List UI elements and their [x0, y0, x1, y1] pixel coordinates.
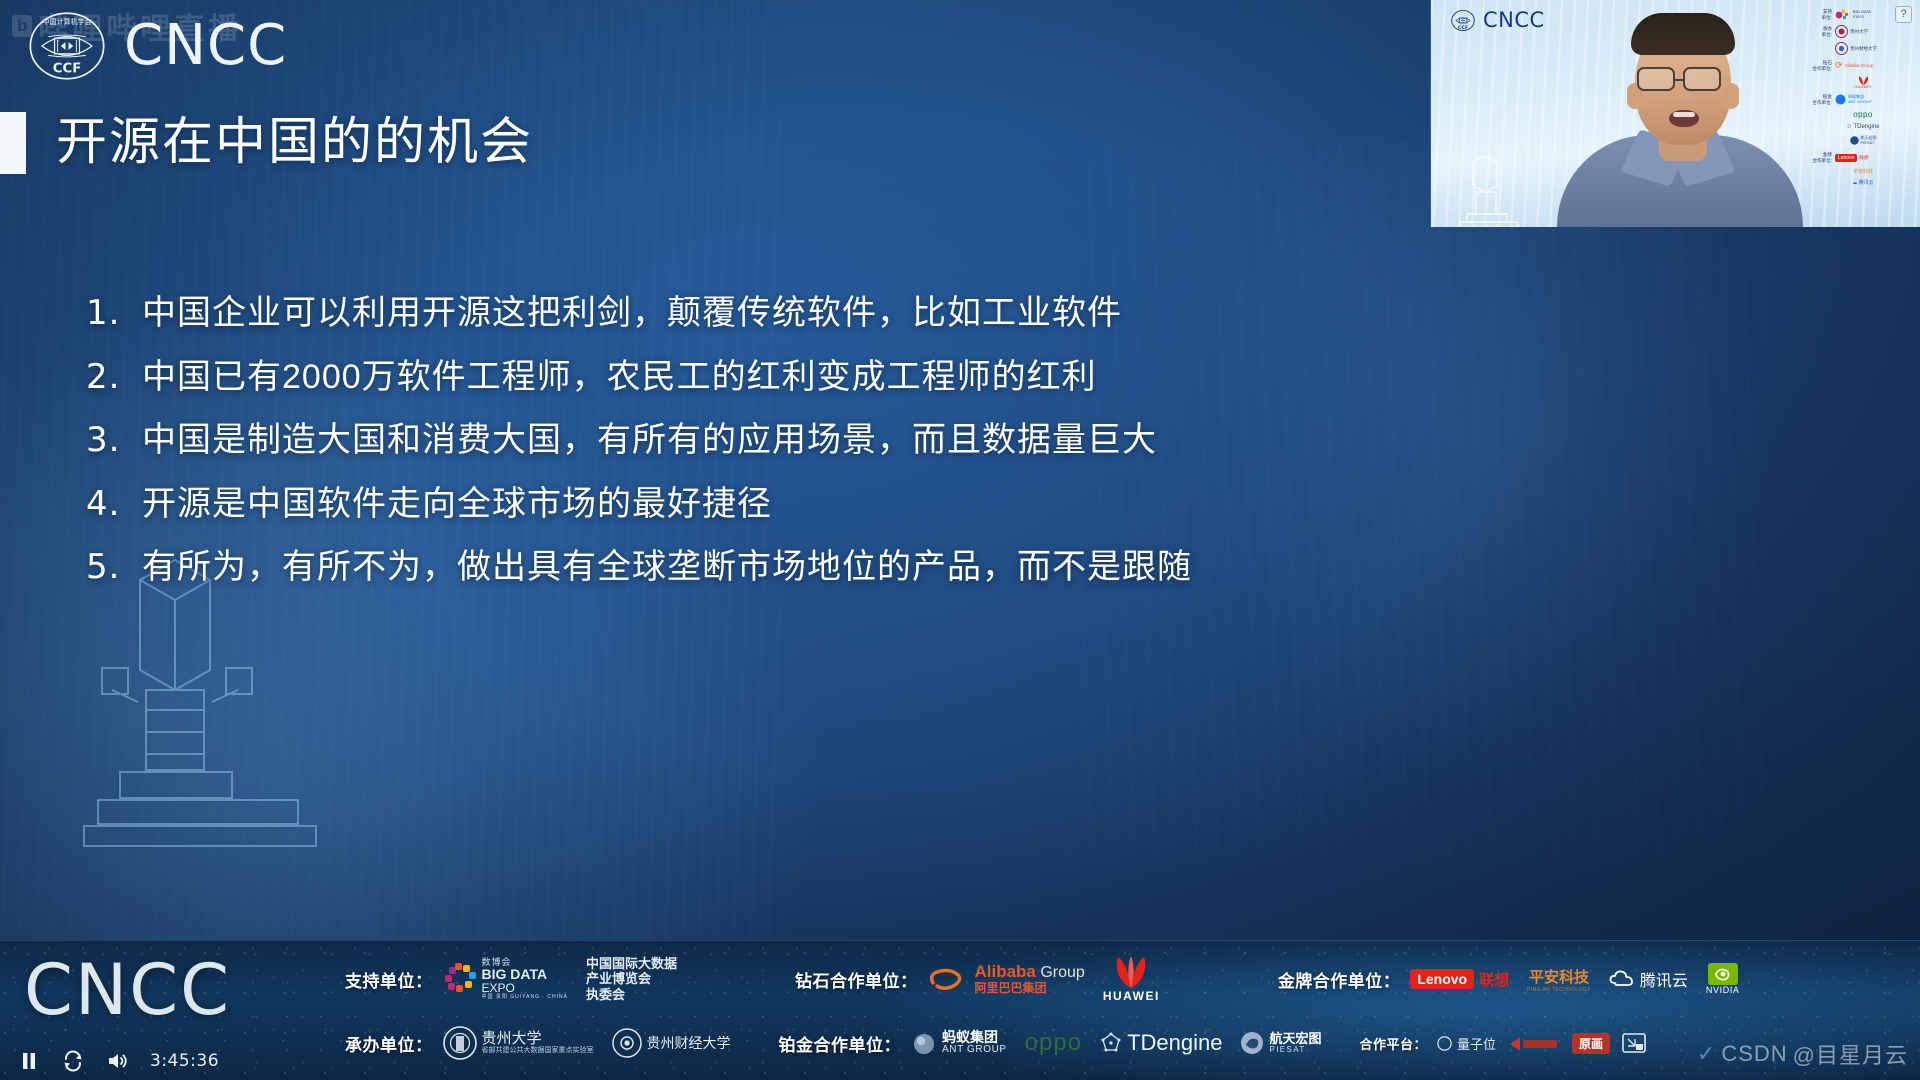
list-item-number: 1.	[86, 292, 142, 336]
lenovo-cn: 联想	[1479, 969, 1509, 990]
video-sponsor-row: 铂金合作单位: 蚂蚁集团ANT GROUP	[1812, 93, 1914, 106]
lenovo-logo: Lenovo 联想	[1410, 969, 1509, 990]
guizhou-finance-university-logo: 贵州财经大学	[612, 1028, 731, 1058]
csdn-watermark: ✓ CSDN @目星月云	[1697, 1038, 1908, 1070]
bullet-list: 1. 中国企业可以利用开源这把利剑，颠覆传统软件，比如工业软件 2. 中国已有2…	[86, 292, 1236, 610]
cncc-wordmark: CNCC	[124, 18, 287, 74]
piesat-cn: 航天宏图	[1269, 1032, 1321, 1046]
ant-group-logo: 蚂蚁集团ANT GROUP	[1835, 93, 1872, 106]
list-item: 1. 中国企业可以利用开源这把利剑，颠覆传统软件，比如工业软件	[86, 292, 1236, 336]
video-sponsor-row: 钻石合作单位: ⟳ Alibaba Group	[1812, 59, 1914, 72]
guizhou-university-logo: 贵州大学	[1835, 25, 1868, 38]
guizhou-university-logo: 贵州大学 省部共建公共大数据国家重点实验室	[443, 1026, 594, 1060]
speaker-mouth	[1669, 110, 1699, 127]
sponsor-label-support: 支持单位：	[345, 967, 433, 992]
tencent-cloud-logo: 腾讯云	[1609, 967, 1688, 991]
expo-committee-text: 中国国际大数据 产业博览会 执委会	[586, 956, 677, 1003]
list-item-number: 3.	[86, 419, 142, 463]
list-item-text: 开源是中国软件走向全球市场的最好捷径	[142, 483, 1236, 527]
title-accent-bar	[0, 112, 26, 174]
sponsor-label-organizer: 承办单位：	[345, 1031, 433, 1056]
video-sponsor-label: 承办单位:	[1812, 26, 1832, 37]
svg-text:CCF: CCF	[1458, 25, 1468, 31]
video-sponsor-row: ☆ TDengine	[1812, 123, 1914, 130]
yuanhua-logo: 原画	[1572, 1033, 1610, 1054]
video-sponsor-row: 贵州财经大学	[1812, 42, 1914, 55]
help-icon[interactable]: ?	[1895, 6, 1912, 23]
huawei-icon	[1108, 956, 1154, 988]
sponsor-label-platinum: 铂金合作单位：	[779, 1031, 902, 1056]
guizhou-finance-university-logo: 贵州财经大学	[1835, 42, 1877, 55]
alibaba-cn: 阿里巴巴集团	[974, 982, 1084, 995]
oppo-logo: oppo	[1853, 110, 1872, 119]
video-sponsor-label: 铂金合作单位:	[1812, 94, 1832, 105]
pause-icon[interactable]	[18, 1050, 40, 1072]
sponsor-grid: 支持单位： 数	[345, 947, 1914, 1075]
qbitai-logo: 量子位	[1437, 1034, 1496, 1053]
organizer-logos: 贵州大学 省部共建公共大数据国家重点实验室 贵州财经大学	[443, 1026, 731, 1060]
list-item: 4. 开源是中国软件走向全球市场的最好捷径	[86, 483, 1236, 527]
csdn-check-icon: ✓	[1697, 1041, 1716, 1067]
video-brand: CCF CNCC	[1451, 8, 1545, 32]
bigdata-expo-en: BIG DATA	[482, 967, 568, 982]
video-sponsor-row: HUAWEI	[1812, 76, 1914, 89]
tdengine-en: TDengine	[1127, 1030, 1222, 1056]
list-item-number: 5.	[86, 546, 142, 590]
ant-group-cn: 蚂蚁集团	[942, 1030, 1007, 1045]
bigdata-expo-en2: EXPO	[482, 982, 568, 995]
sponsor-row-top: 支持单位： 数	[345, 950, 1914, 1008]
guizhou-finance-seal-icon	[612, 1028, 642, 1058]
volume-icon[interactable]	[106, 1050, 128, 1072]
pingan-sub: PING AN TECHNOLOGY	[1527, 987, 1591, 993]
svg-text:中国计算机学会: 中国计算机学会	[43, 17, 92, 26]
huawei-en: HUAWEI	[1103, 989, 1160, 1003]
guizhou-university-sub: 省部共建公共大数据国家重点实验室	[482, 1047, 594, 1055]
nvidia-logo: NVIDIA	[1706, 963, 1740, 995]
tdengine-logo: ☆ TDengine	[1847, 123, 1880, 130]
speaker-hair	[1631, 13, 1735, 55]
video-tower-decoration-icon	[1457, 152, 1527, 227]
list-item-text: 中国企业可以利用开源这把利剑，颠覆传统软件，比如工业软件	[142, 292, 1236, 336]
lenovo-badge: Lenovo	[1410, 969, 1474, 989]
piesat-logo: 航天宏图 PIESAT	[1240, 1031, 1321, 1055]
alibaba-en: Alibaba	[974, 962, 1035, 981]
piesat-logo: 航天宏图PIESAT	[1850, 134, 1877, 147]
alibaba-logo: ⟳ Alibaba Group	[1835, 59, 1873, 72]
qbitai-cn: 量子位	[1457, 1034, 1496, 1053]
bigdata-expo-logo: BIG DATAEXPO	[1835, 8, 1871, 21]
nvidia-en: NVIDIA	[1706, 985, 1740, 995]
eyeglasses-right-lens-icon	[1683, 67, 1721, 91]
speaker-figure	[1555, 12, 1805, 227]
platinum-logos: 蚂蚁集团 ANT GROUP oppo	[911, 1029, 1321, 1057]
video-sponsor-label: 支持单位:	[1812, 9, 1832, 20]
qbitai-icon	[1437, 1036, 1452, 1051]
footer-sponsor-bar: CNCC 支持单位：	[0, 940, 1920, 1080]
list-item-text: 中国是制造大国和消费大国，有所有的应用场景，而且数据量巨大	[142, 419, 1236, 463]
pingan-logo: 平安科技	[1853, 168, 1873, 175]
diamond-logos: Alibaba Group 阿里巴巴集团 HUAWEI	[927, 956, 1159, 1003]
committee-line-1: 中国国际大数据	[586, 956, 677, 972]
video-sponsor-row: ☁ 腾讯云	[1812, 179, 1914, 186]
ccf-logo-icon: CCF	[1451, 9, 1475, 32]
video-sponsor-row: 平安科技	[1812, 168, 1914, 175]
speaker-ear-right	[1723, 83, 1739, 109]
brand-header: CCF 中国计算机学会 CNCC	[28, 10, 287, 82]
player-controls[interactable]: 3:45:36	[18, 1050, 219, 1072]
eyeglasses-left-lens-icon	[1637, 67, 1675, 91]
csdn-site: CSDN	[1721, 1041, 1787, 1067]
red-partner-logo	[1508, 1035, 1560, 1052]
slide-player-stage: b 哔哩哔哩直播 CCF 中国计算机学会 CNCC 开源在中国的的机会 1. 中…	[0, 0, 1920, 1080]
ant-group-en: ANT GROUP	[942, 1045, 1007, 1056]
video-sponsor-row: 航天宏图PIESAT	[1812, 134, 1914, 147]
guizhou-finance-cn: 贵州财经大学	[647, 1033, 731, 1053]
loop-icon[interactable]	[62, 1050, 84, 1072]
pingan-cn: 平安科技	[1529, 966, 1589, 987]
guizhou-university-seal-icon	[443, 1026, 477, 1060]
pingan-logo: 平安科技 PING AN TECHNOLOGY	[1527, 966, 1591, 993]
committee-line-2: 产业博览会	[586, 971, 677, 987]
piesat-en: PIESAT	[1269, 1046, 1321, 1055]
video-cncc-wordmark: CNCC	[1483, 8, 1545, 32]
sponsor-label-diamond: 钻石合作单位：	[795, 967, 918, 992]
speaker-video-window[interactable]: CCF CNCC ?	[1430, 0, 1920, 227]
video-sponsor-row: oppo	[1812, 110, 1914, 119]
tencent-cloud-icon	[1609, 969, 1635, 989]
bigdata-expo-sub: 中国 贵阳 GUIYANG · CHINA	[482, 995, 568, 1000]
ccf-logo-icon: CCF 中国计算机学会	[28, 10, 106, 82]
sponsor-label-platform: 合作平台：	[1359, 1034, 1427, 1053]
misc-partner-logo	[1622, 1033, 1646, 1053]
sponsor-row-bottom: 承办单位： 贵州大学 省部共建公共大数据国家重点实验室	[345, 1014, 1914, 1072]
guizhou-university-cn: 贵州大学	[482, 1031, 594, 1048]
video-sponsor-column: 支持单位: BIG DATAEXPO 承办单位: 贵州大学 贵州财经大学	[1812, 8, 1914, 190]
tdengine-icon	[1100, 1032, 1122, 1054]
oppo-logo: oppo	[1025, 1029, 1082, 1057]
tdengine-logo: TDengine	[1100, 1030, 1222, 1056]
ant-group-icon	[911, 1030, 937, 1056]
ant-group-logo: 蚂蚁集团 ANT GROUP	[911, 1030, 1007, 1056]
list-item-number: 2.	[86, 356, 142, 400]
red-partner-icon	[1508, 1035, 1560, 1052]
tencent-cloud-logo: ☁ 腾讯云	[1852, 179, 1873, 186]
alibaba-icon	[927, 965, 969, 993]
misc-partner-icon	[1622, 1033, 1646, 1053]
yuanhua-cn: 原画	[1572, 1033, 1610, 1054]
tencent-cn: 腾讯云	[1640, 967, 1688, 991]
footer-cncc-wordmark: CNCC	[24, 949, 231, 1031]
sponsor-label-gold: 金牌合作单位：	[1278, 967, 1401, 992]
nvidia-icon	[1708, 963, 1738, 985]
oppo-en: oppo	[1025, 1029, 1082, 1057]
list-item-text: 中国已有2000万软件工程师，农民工的红利变成工程师的红利	[142, 356, 1236, 400]
platform-logos: 量子位 原画	[1437, 1033, 1646, 1054]
alibaba-logo: Alibaba Group 阿里巴巴集团	[927, 963, 1084, 994]
bigdata-expo-logo: 数博会 BIG DATA EXPO 中国 贵阳 GUIYANG · CHINA	[443, 958, 568, 1000]
lenovo-logo: Lenovo 联想	[1835, 151, 1868, 164]
support-logos: 数博会 BIG DATA EXPO 中国 贵阳 GUIYANG · CHINA …	[443, 956, 677, 1003]
list-item: 2. 中国已有2000万软件工程师，农民工的红利变成工程师的红利	[86, 356, 1236, 400]
elapsed-time: 3:45:36	[150, 1051, 219, 1071]
list-item-number: 4.	[86, 483, 142, 527]
huawei-logo: HUAWEI	[1854, 76, 1871, 89]
video-sponsor-label: 钻石合作单位:	[1812, 60, 1832, 71]
bigdata-expo-icon	[443, 963, 477, 995]
gold-logos: Lenovo 联想 平安科技 PING AN TECHNOLOGY 腾讯云	[1410, 963, 1739, 995]
alibaba-en2: Group	[1040, 964, 1084, 981]
eyeglasses-bridge-icon	[1675, 79, 1685, 82]
page-title: 开源在中国的的机会	[56, 100, 533, 174]
huawei-logo: HUAWEI	[1103, 956, 1160, 1003]
svg-text:CCF: CCF	[53, 62, 82, 77]
list-item-text: 有所为，有所不为，做出具有全球垄断市场地位的产品，而不是跟随	[142, 546, 1236, 590]
list-item: 3. 中国是制造大国和消费大国，有所有的应用场景，而且数据量巨大	[86, 419, 1236, 463]
committee-line-3: 执委会	[586, 987, 677, 1003]
video-sponsor-row: 承办单位: 贵州大学	[1812, 25, 1914, 38]
video-sponsor-row: 金牌合作单位: Lenovo 联想	[1812, 151, 1914, 164]
csdn-user: @目星月云	[1793, 1038, 1908, 1070]
lenovo-badge: Lenovo	[1835, 154, 1857, 162]
list-item: 5. 有所为，有所不为，做出具有全球垄断市场地位的产品，而不是跟随	[86, 546, 1236, 590]
piesat-icon	[1240, 1031, 1264, 1055]
video-sponsor-label: 金牌合作单位:	[1812, 152, 1832, 163]
